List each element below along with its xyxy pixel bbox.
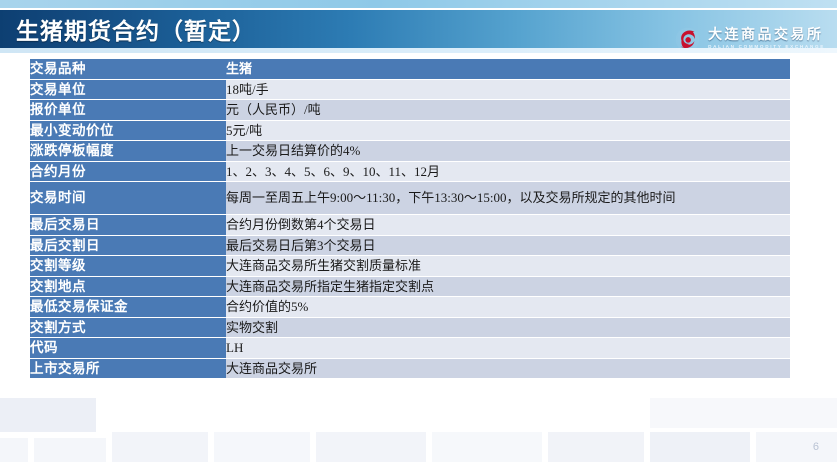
table-row: 交易品种生猪 — [30, 59, 790, 79]
background-block — [0, 438, 28, 462]
spec-value-cell: LH — [226, 338, 790, 358]
spec-value-cell: 合约月份倒数第4个交易日 — [226, 215, 790, 235]
spec-value-cell: 大连商品交易所 — [226, 359, 790, 379]
slide-canvas: 生猪期货合约（暂定） 大连商品交易所 DALIAN COMMODITY EXCH… — [0, 0, 837, 475]
spec-label-cell: 交易品种 — [30, 59, 226, 79]
banner-underline — [0, 48, 837, 53]
logo-name-cn: 大连商品交易所 — [708, 29, 825, 43]
table-row: 上市交易所大连商品交易所 — [30, 359, 790, 379]
page-title: 生猪期货合约（暂定） — [16, 12, 256, 46]
table-row: 交割地点大连商品交易所指定生猪指定交割点 — [30, 277, 790, 297]
table-row: 最后交易日合约月份倒数第4个交易日 — [30, 215, 790, 235]
spec-value-cell: 大连商品交易所指定生猪指定交割点 — [226, 277, 790, 297]
spec-label-cell: 交割地点 — [30, 277, 226, 297]
table-row: 交易时间每周一至周五上午9:00～11:30，下午13:30～15:00，以及交… — [30, 182, 790, 214]
table-row: 涨跌停板幅度上一交易日结算价的4% — [30, 141, 790, 161]
spec-label-cell: 交割等级 — [30, 256, 226, 276]
spec-label-cell: 代码 — [30, 338, 226, 358]
spec-value-cell: 元（人民币）/吨 — [226, 100, 790, 120]
spec-value-cell: 每周一至周五上午9:00～11:30，下午13:30～15:00，以及交易所规定… — [226, 182, 790, 214]
spec-label-cell: 上市交易所 — [30, 359, 226, 379]
table-row: 合约月份1、2、3、4、5、6、9、10、11、12月 — [30, 162, 790, 182]
page-number: 6 — [813, 441, 819, 453]
background-block — [650, 398, 837, 428]
table-row: 交割等级大连商品交易所生猪交割质量标准 — [30, 256, 790, 276]
background-block — [650, 432, 750, 462]
spec-label-cell: 报价单位 — [30, 100, 226, 120]
background-block — [214, 432, 310, 462]
spec-label-cell: 合约月份 — [30, 162, 226, 182]
spec-label-cell: 涨跌停板幅度 — [30, 141, 226, 161]
spec-label-cell: 交割方式 — [30, 318, 226, 338]
table-row: 最后交割日最后交易日后第3个交易日 — [30, 236, 790, 256]
spec-value-cell: 大连商品交易所生猪交割质量标准 — [226, 256, 790, 276]
spec-value-cell: 5元/吨 — [226, 121, 790, 141]
spec-value-cell: 最后交易日后第3个交易日 — [226, 236, 790, 256]
contract-spec-body: 交易品种生猪交易单位18吨/手报价单位元（人民币）/吨最小变动价位5元/吨涨跌停… — [30, 59, 790, 378]
background-block — [0, 398, 96, 432]
table-row: 最低交易保证金合约价值的5% — [30, 297, 790, 317]
contract-spec-table: 交易品种生猪交易单位18吨/手报价单位元（人民币）/吨最小变动价位5元/吨涨跌停… — [30, 58, 790, 379]
background-block — [432, 432, 542, 462]
table-row: 最小变动价位5元/吨 — [30, 121, 790, 141]
title-banner: 生猪期货合约（暂定） 大连商品交易所 DALIAN COMMODITY EXCH… — [0, 10, 837, 48]
table-row: 交易单位18吨/手 — [30, 80, 790, 100]
spec-value-cell: 1、2、3、4、5、6、9、10、11、12月 — [226, 162, 790, 182]
spec-label-cell: 最后交易日 — [30, 215, 226, 235]
table-row: 报价单位元（人民币）/吨 — [30, 100, 790, 120]
table-row: 代码LH — [30, 338, 790, 358]
spec-value-cell: 上一交易日结算价的4% — [226, 141, 790, 161]
spec-value-cell: 18吨/手 — [226, 80, 790, 100]
spec-label-cell: 最小变动价位 — [30, 121, 226, 141]
spec-label-cell: 最低交易保证金 — [30, 297, 226, 317]
top-accent-strip — [0, 0, 837, 8]
logo-wordmark: 大连商品交易所 DALIAN COMMODITY EXCHANGE — [708, 29, 825, 50]
background-block — [316, 432, 426, 462]
background-block — [756, 432, 837, 462]
background-block — [34, 438, 106, 462]
spec-value-cell: 实物交割 — [226, 318, 790, 338]
spec-value-cell: 生猪 — [226, 59, 790, 79]
spec-label-cell: 交易单位 — [30, 80, 226, 100]
table-row: 交割方式实物交割 — [30, 318, 790, 338]
background-block — [112, 432, 208, 462]
spec-label-cell: 交易时间 — [30, 182, 226, 214]
spec-label-cell: 最后交割日 — [30, 236, 226, 256]
spec-value-cell: 合约价值的5% — [226, 297, 790, 317]
background-block — [548, 432, 644, 462]
